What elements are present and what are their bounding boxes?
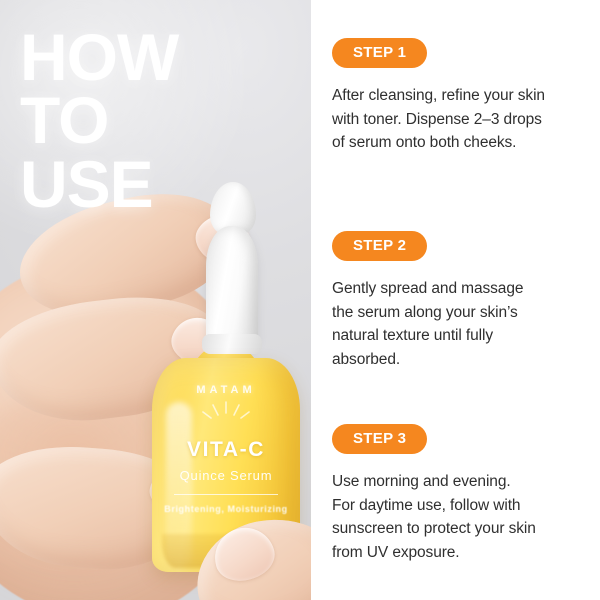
- how-to-use-infographic: MATAM VITA-C Quince Serum Brightening, M…: [0, 0, 600, 600]
- steps-panel: STEP 1 After cleansing, refine your skin…: [311, 0, 600, 600]
- step-badge-1: STEP 1: [332, 38, 427, 68]
- step-badge-2: STEP 2: [332, 231, 427, 261]
- step-text-3: Use morning and evening. For daytime use…: [332, 470, 590, 564]
- headline-line-1: HOW: [20, 26, 178, 89]
- step-badge-3: STEP 3: [332, 424, 427, 454]
- step-item-3: STEP 3 Use morning and evening. For dayt…: [332, 424, 590, 564]
- step-text-1: After cleansing, refine your skin with t…: [332, 84, 590, 155]
- step-item-1: STEP 1 After cleansing, refine your skin…: [332, 38, 590, 155]
- step-text-2: Gently spread and massage the serum alon…: [332, 277, 590, 371]
- page-title: HOW TO USE: [20, 26, 178, 216]
- headline-line-2: TO: [20, 89, 178, 152]
- headline-line-3: USE: [20, 153, 178, 216]
- product-photo-panel: MATAM VITA-C Quince Serum Brightening, M…: [0, 0, 311, 600]
- step-item-2: STEP 2 Gently spread and massage the ser…: [332, 231, 590, 371]
